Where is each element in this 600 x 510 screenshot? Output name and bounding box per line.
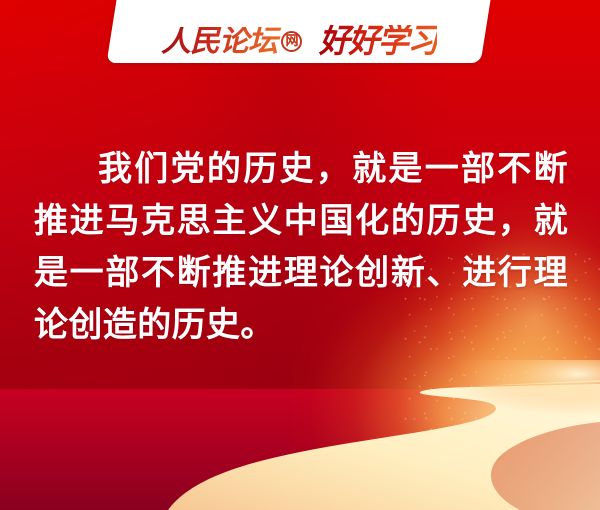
winding-road [0, 360, 600, 510]
site-logo-text: 人民论坛 [161, 27, 277, 57]
column-logo[interactable]: 好好学习 [319, 25, 437, 58]
site-logo[interactable]: 人民论坛 网 [161, 27, 302, 57]
header-banner-content: 人民论坛 网 好好学习 [112, 0, 486, 63]
site-logo-net-badge: 网 [281, 31, 302, 52]
horizon-burst [380, 360, 600, 430]
poster-root: 人民论坛 网 好好学习 我们党的历史，就是一部不断推进马克思主义中国化的历史，就… [0, 0, 600, 510]
quote-text: 我们党的历史，就是一部不断推进马克思主义中国化的历史，就是一部不断推进理论创新、… [34, 143, 568, 351]
